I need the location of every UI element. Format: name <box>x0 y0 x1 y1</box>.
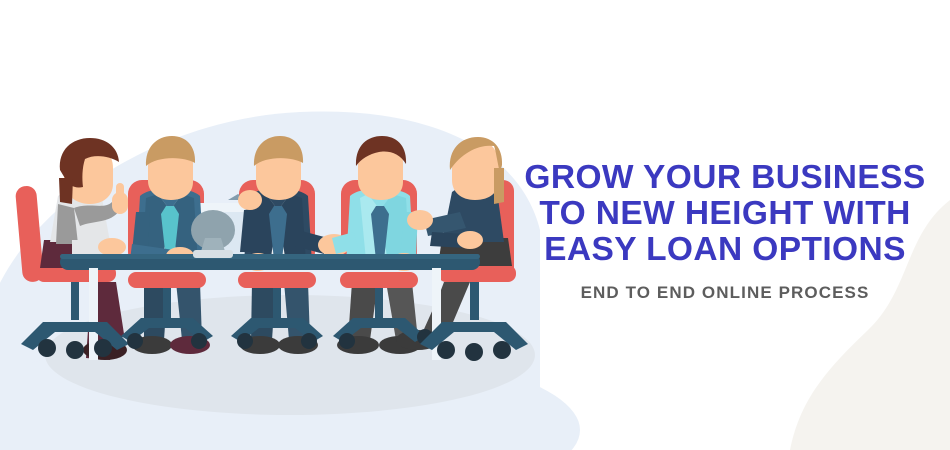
desk-device <box>191 210 235 258</box>
chair-seat-4 <box>340 272 418 288</box>
banner-text-block: GROW YOUR BUSINESS TO NEW HEIGHT WITH EA… <box>505 160 945 303</box>
banner-subtitle: END TO END ONLINE PROCESS <box>505 268 945 303</box>
woman-hand <box>98 238 126 256</box>
chair-seat-3 <box>238 272 316 288</box>
page-title: GROW YOUR BUSINESS TO NEW HEIGHT WITH EA… <box>505 160 945 268</box>
promo-banner: GROW YOUR BUSINESS TO NEW HEIGHT WITH EA… <box>0 0 950 450</box>
headline-line-1: GROW YOUR BUSINESS <box>505 160 945 196</box>
man5-hand <box>407 210 433 230</box>
chair-seat-2 <box>128 272 206 288</box>
headline-line-3: EASY LOAN OPTIONS <box>505 232 945 268</box>
headline-line-2: TO NEW HEIGHT WITH <box>505 196 945 232</box>
